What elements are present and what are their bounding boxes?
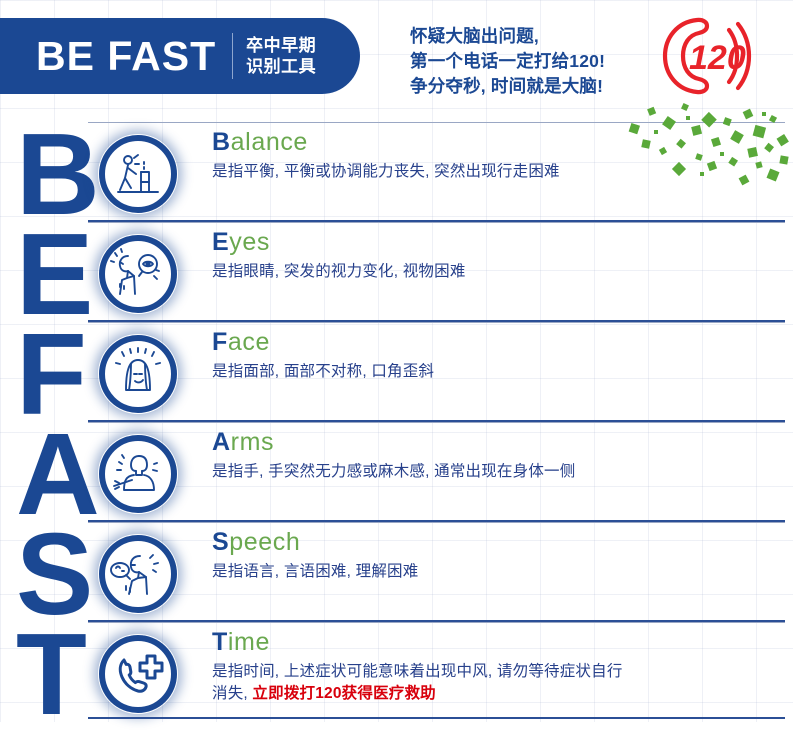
header-subtitle: 卒中早期 识别工具 <box>246 35 316 78</box>
list-item[interactable]: F Face 是指面部, 面部不对称, 口角歪斜 <box>0 322 793 422</box>
weak-arm-icon <box>98 434 178 514</box>
row-text-block: Speech 是指语言, 言语困难, 理解困难 <box>212 528 783 583</box>
row-description: 是指时间, 上述症状可能意味着出现中风, 请勿等待症状自行 消失, 立即拨打12… <box>212 661 783 705</box>
person-losing-balance-icon <box>98 134 178 214</box>
emergency-phone-cross-icon <box>98 634 178 714</box>
callout-text: 怀疑大脑出问题, 第一个电话一定打给120! 争分夺秒, 时间就是大脑! <box>410 24 605 99</box>
row-title-initial: B <box>212 128 231 156</box>
row-description-line1: 是指时间, 上述症状可能意味着出现中风, 请勿等待症状自行 <box>212 663 623 680</box>
row-text-block: Arms 是指手, 手突然无力感或麻木感, 通常出现在身体一侧 <box>212 428 783 483</box>
callout-line-3: 争分夺秒, 时间就是大脑! <box>410 74 605 99</box>
row-separator-top <box>88 422 785 423</box>
row-description-line2: 消失, <box>212 685 252 702</box>
badge-number-text: 120 <box>689 39 746 77</box>
header-subtitle-line2: 识别工具 <box>246 56 316 77</box>
row-title: Time <box>212 628 783 657</box>
row-title: Face <box>212 328 783 357</box>
header-banner: BE FAST 卒中早期 识别工具 <box>0 18 360 94</box>
row-title: Arms <box>212 428 783 457</box>
row-description: 是指语言, 言语困难, 理解困难 <box>212 561 783 583</box>
row-title: Eyes <box>212 228 783 257</box>
green-confetti-decoration <box>620 96 793 206</box>
row-title-rest: yes <box>229 228 270 256</box>
row-title-initial: A <box>212 428 231 456</box>
row-separator-top <box>88 522 785 523</box>
slurred-speech-icon <box>98 534 178 614</box>
page-title: BE FAST <box>36 36 216 77</box>
row-description: 是指手, 手突然无力感或麻木感, 通常出现在身体一侧 <box>212 461 783 483</box>
header-subtitle-line1: 卒中早期 <box>246 35 316 56</box>
row-title-rest: alance <box>231 128 308 156</box>
header-divider <box>232 33 233 79</box>
callout-line-1: 怀疑大脑出问题, <box>410 24 605 49</box>
row-title-rest: ime <box>228 628 270 656</box>
phone-ringing-icon: 120 <box>645 14 755 102</box>
list-item[interactable]: T Time 是指时间, 上述症状可能意味着出现中风, 请勿等待症状自行 消失,… <box>0 622 793 720</box>
row-title-initial: E <box>212 228 229 256</box>
row-title-initial: T <box>212 628 228 656</box>
row-title-initial: F <box>212 328 228 356</box>
row-description: 是指眼睛, 突发的视力变化, 视物困难 <box>212 261 783 283</box>
blurred-vision-eye-icon <box>98 234 178 314</box>
row-description: 是指面部, 面部不对称, 口角歪斜 <box>212 361 783 383</box>
bottom-rule <box>88 717 785 719</box>
row-separator-top <box>88 322 785 323</box>
row-text-block: Eyes 是指眼睛, 突发的视力变化, 视物困难 <box>212 228 783 283</box>
list-item[interactable]: E <box>0 222 793 322</box>
row-separator-top <box>88 222 785 223</box>
row-title-initial: S <box>212 528 229 556</box>
row-text-block: Face 是指面部, 面部不对称, 口角歪斜 <box>212 328 783 383</box>
list-item[interactable]: S Speech <box>0 522 793 622</box>
row-title-rest: rms <box>231 428 274 456</box>
callout-line-2: 第一个电话一定打给120! <box>410 49 605 74</box>
drooping-face-icon <box>98 334 178 414</box>
emergency-call-emphasis: 立即拨打120获得医疗救助 <box>252 685 435 702</box>
row-title-rest: ace <box>228 328 270 356</box>
row-separator-top <box>88 622 785 623</box>
big-letter-t: T <box>16 616 87 732</box>
row-text-block: Time 是指时间, 上述症状可能意味着出现中风, 请勿等待症状自行 消失, 立… <box>212 628 783 705</box>
list-item[interactable]: A Arms 是指手 <box>0 422 793 522</box>
row-title-rest: peech <box>229 528 300 556</box>
row-title: Speech <box>212 528 783 557</box>
